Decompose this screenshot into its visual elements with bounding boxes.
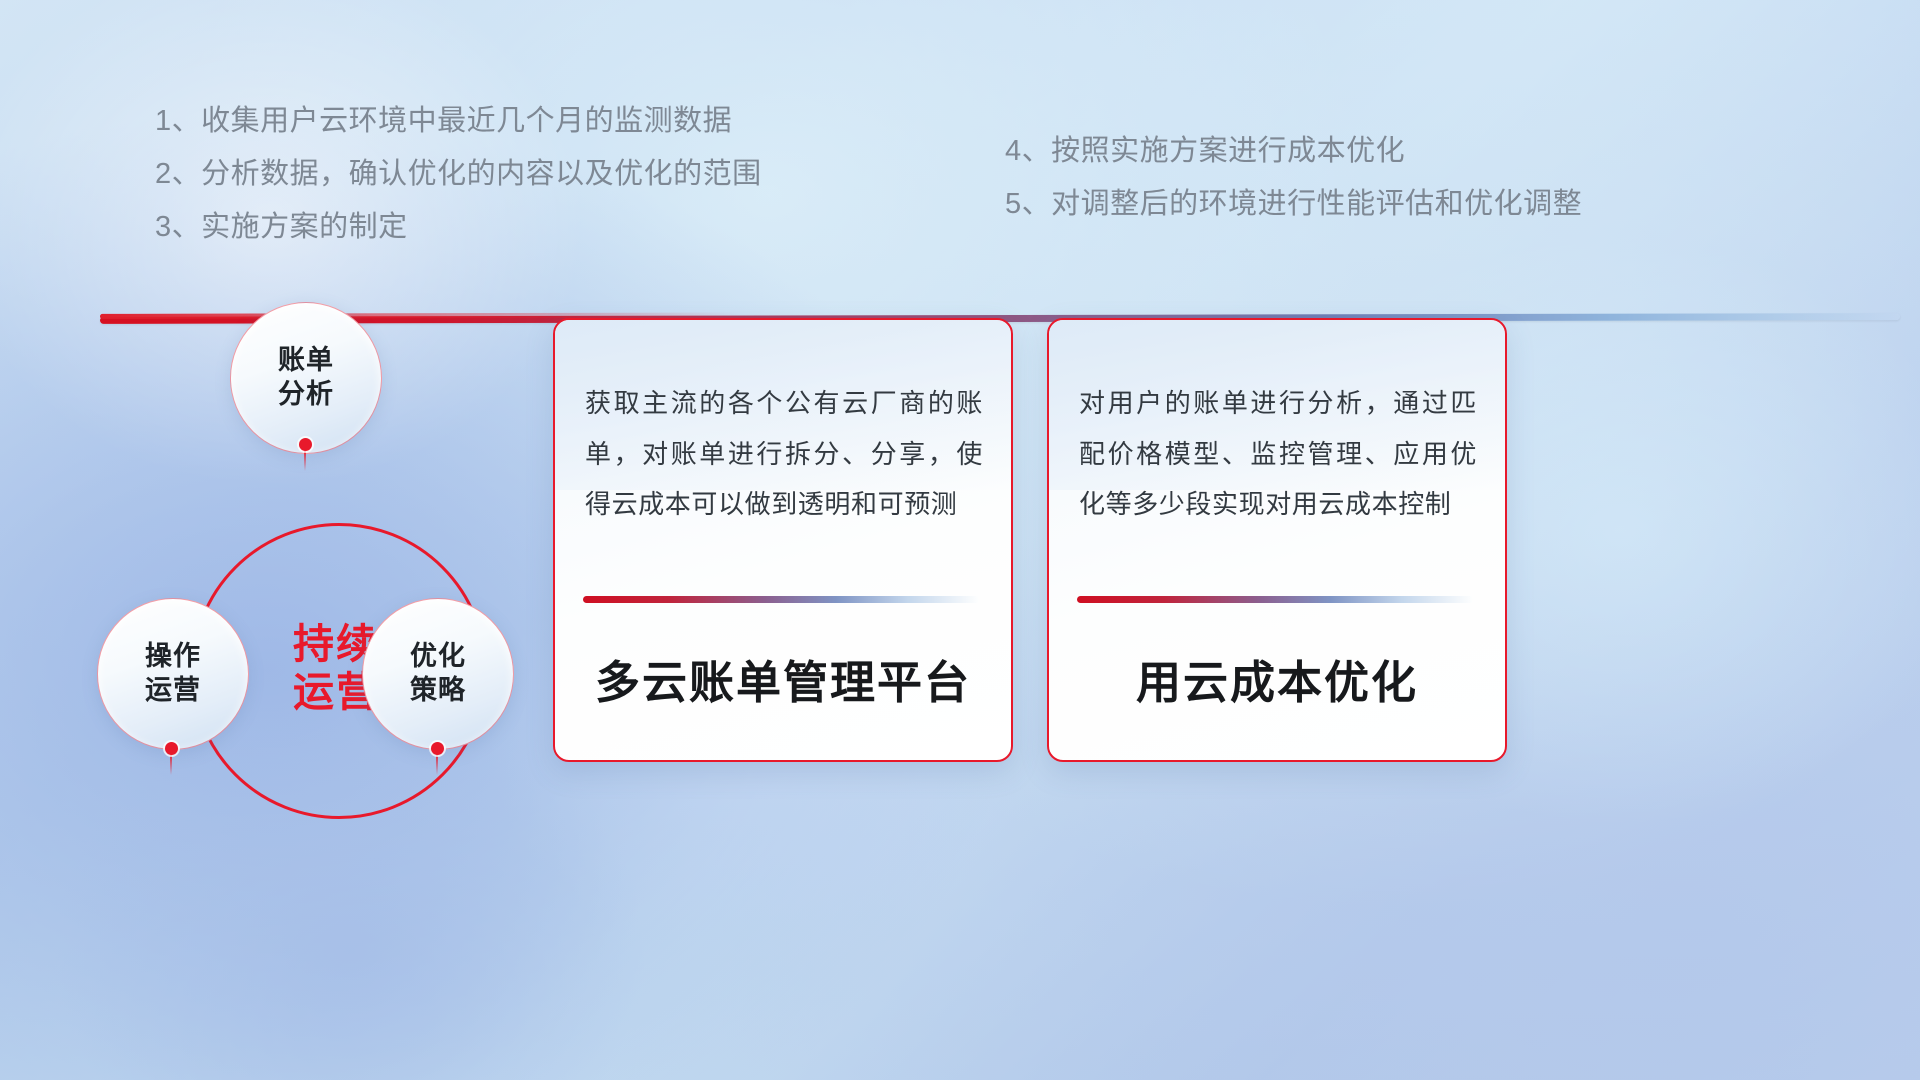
- bubble-label-line-2: 策略: [410, 674, 466, 708]
- venn-bubble-billing-analysis[interactable]: 账单 分析: [230, 302, 382, 454]
- bubble-label-line-1: 优化: [410, 640, 466, 674]
- connector-stem-top: [304, 449, 306, 471]
- feature-card-cloud-cost-optimization[interactable]: 对用户的账单进行分析，通过匹配价格模型、监控管理、应用优化等多少段实现对用云成本…: [1047, 318, 1507, 762]
- connector-stem-right: [436, 753, 438, 775]
- venn-diagram: 持续 运营 账单 分析 操作 运营 优化 策略: [95, 345, 565, 925]
- bubble-label-line-1: 操作: [145, 640, 201, 674]
- venn-bubble-optimization-strategy[interactable]: 优化 策略: [362, 598, 514, 750]
- step-item-4: 4、按照实施方案进行成本优化: [1005, 127, 1405, 169]
- card-title: 多云账单管理平台: [555, 646, 1011, 711]
- feature-card-multicloud-billing[interactable]: 获取主流的各个公有云厂商的账单，对账单进行拆分、分享，使得云成本可以做到透明和可…: [553, 318, 1013, 762]
- connector-dot-right-icon: [431, 742, 444, 755]
- bubble-label-line-2: 分析: [278, 378, 334, 412]
- card-accent-rule: [1077, 596, 1473, 603]
- card-title: 用云成本优化: [1049, 646, 1505, 711]
- connector-dot-left-icon: [165, 742, 178, 755]
- bubble-label-line-1: 账单: [278, 344, 334, 378]
- card-body-text: 对用户的账单进行分析，通过匹配价格模型、监控管理、应用优化等多少段实现对用云成本…: [1079, 378, 1477, 530]
- bubble-label-line-2: 运营: [145, 674, 201, 708]
- connector-dot-top-icon: [299, 438, 312, 451]
- step-item-5: 5、对调整后的环境进行性能评估和优化调整: [1005, 180, 1582, 222]
- connector-stem-left: [170, 753, 172, 775]
- step-item-2: 2、分析数据，确认优化的内容以及优化的范围: [155, 150, 762, 192]
- step-item-1: 1、收集用户云环境中最近几个月的监测数据: [155, 97, 732, 139]
- card-body-text: 获取主流的各个公有云厂商的账单，对账单进行拆分、分享，使得云成本可以做到透明和可…: [585, 378, 983, 530]
- venn-bubble-operations[interactable]: 操作 运营: [97, 598, 249, 750]
- steps-list: 1、收集用户云环境中最近几个月的监测数据 2、分析数据，确认优化的内容以及优化的…: [0, 0, 1920, 290]
- card-accent-rule: [583, 596, 979, 603]
- step-item-3: 3、实施方案的制定: [155, 203, 408, 245]
